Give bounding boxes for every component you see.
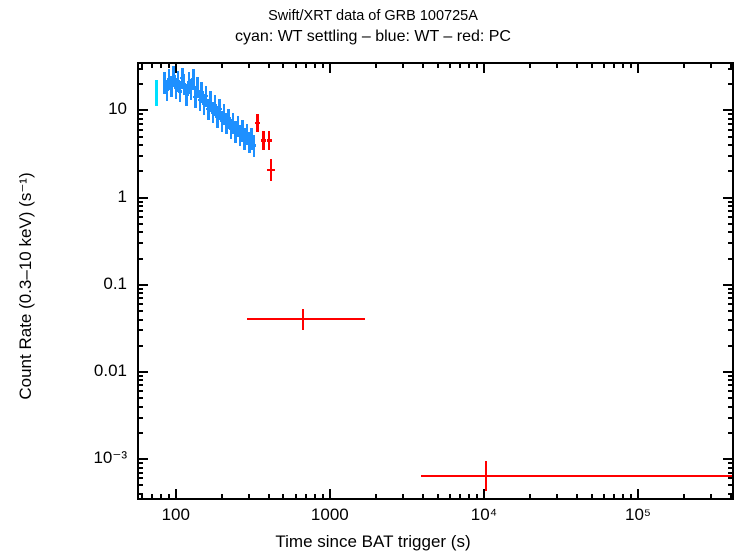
x-tick-top bbox=[476, 62, 478, 68]
x-tick-top bbox=[268, 62, 270, 68]
y-tick-right bbox=[728, 136, 734, 138]
y-tick bbox=[137, 170, 143, 172]
x-tick-top bbox=[160, 62, 162, 68]
y-tick-right bbox=[728, 397, 734, 399]
plot-canvas: Swift/XRT data of GRB 100725A cyan: WT s… bbox=[0, 0, 746, 558]
y-tick bbox=[137, 390, 143, 392]
x-tick bbox=[221, 494, 223, 500]
y-tick-right bbox=[728, 375, 734, 377]
y-tick-right bbox=[728, 432, 734, 434]
x-tick-top bbox=[468, 62, 470, 68]
y-tick-right bbox=[728, 462, 734, 464]
x-tick bbox=[449, 494, 451, 500]
x-tick-top bbox=[314, 62, 316, 68]
x-error-bar bbox=[195, 86, 199, 89]
y-tick-right bbox=[728, 303, 734, 305]
x-tick bbox=[329, 489, 331, 500]
x-tick-top bbox=[437, 62, 439, 68]
y-tick bbox=[137, 216, 143, 218]
y-tick bbox=[137, 292, 143, 294]
y-tick bbox=[137, 197, 148, 199]
x-tick bbox=[175, 489, 177, 500]
y-tick-right bbox=[728, 310, 734, 312]
x-tick-top bbox=[375, 62, 377, 68]
x-tick bbox=[160, 494, 162, 500]
y-tick bbox=[137, 242, 143, 244]
y-tick bbox=[137, 345, 143, 347]
y-tick-right bbox=[728, 129, 734, 131]
x-tick-top bbox=[221, 62, 223, 68]
x-tick bbox=[603, 494, 605, 500]
x-tick-top bbox=[151, 62, 153, 68]
x-error-bar bbox=[185, 93, 189, 96]
x-tick-top bbox=[449, 62, 451, 68]
y-tick-right bbox=[728, 379, 734, 381]
y-tick bbox=[137, 467, 143, 469]
x-tick bbox=[556, 494, 558, 500]
x-tick bbox=[591, 494, 593, 500]
y-tick-right bbox=[728, 493, 734, 495]
y-tick bbox=[137, 371, 148, 373]
y-tick-right bbox=[728, 297, 734, 299]
y-tick bbox=[137, 83, 143, 85]
y-tick bbox=[137, 123, 143, 125]
y-tick-right bbox=[723, 109, 734, 111]
x-tick-top bbox=[622, 62, 624, 68]
y-tick bbox=[137, 384, 143, 386]
y-tick bbox=[137, 303, 143, 305]
x-tick-top bbox=[710, 62, 712, 68]
x-tick bbox=[613, 494, 615, 500]
x-tick bbox=[683, 494, 685, 500]
x-error-bar bbox=[267, 139, 272, 142]
y-tick-right bbox=[728, 472, 734, 474]
x-tick bbox=[314, 494, 316, 500]
y-tick-right bbox=[728, 201, 734, 203]
y-tick-right bbox=[728, 467, 734, 469]
x-tick bbox=[422, 494, 424, 500]
x-tick bbox=[168, 494, 170, 500]
y-tick bbox=[137, 201, 143, 203]
y-tick bbox=[137, 329, 143, 331]
data-area bbox=[139, 64, 732, 498]
x-tick-top bbox=[329, 62, 331, 73]
y-tick-right bbox=[728, 113, 734, 115]
x-tick-top bbox=[459, 62, 461, 68]
y-tick-right bbox=[728, 123, 734, 125]
y-tick bbox=[137, 129, 143, 131]
y-tick-right bbox=[728, 144, 734, 146]
x-tick-top bbox=[168, 62, 170, 68]
y-tick bbox=[137, 406, 143, 408]
y-tick bbox=[137, 68, 143, 70]
x-tick-top bbox=[322, 62, 324, 68]
x-tick-top bbox=[282, 62, 284, 68]
x-tick bbox=[637, 489, 639, 500]
y-tick bbox=[137, 297, 143, 299]
x-tick-top bbox=[402, 62, 404, 68]
x-axis-title: Time since BAT trigger (s) bbox=[0, 532, 746, 552]
x-error-bar bbox=[178, 90, 182, 93]
y-tick-right bbox=[728, 292, 734, 294]
y-tick bbox=[137, 484, 143, 486]
x-error-bar bbox=[252, 144, 256, 147]
y-tick-right bbox=[728, 210, 734, 212]
x-tick bbox=[630, 494, 632, 500]
y-tick-right bbox=[728, 484, 734, 486]
x-error-bar bbox=[155, 91, 158, 94]
x-tick-top bbox=[483, 62, 485, 73]
y-tick bbox=[137, 379, 143, 381]
x-tick bbox=[282, 494, 284, 500]
y-tick bbox=[137, 136, 143, 138]
y-tick bbox=[137, 113, 143, 115]
x-tick-top bbox=[630, 62, 632, 68]
y-tick bbox=[137, 284, 148, 286]
x-tick-label: 100 bbox=[116, 505, 236, 525]
x-tick-top bbox=[576, 62, 578, 68]
x-tick-top bbox=[295, 62, 297, 68]
y-tick bbox=[137, 458, 148, 460]
x-tick bbox=[248, 494, 250, 500]
x-tick bbox=[322, 494, 324, 500]
y-tick bbox=[137, 258, 143, 260]
plot-frame bbox=[137, 62, 734, 500]
y-tick bbox=[137, 319, 143, 321]
x-error-bar bbox=[204, 95, 208, 98]
y-tick-right bbox=[728, 231, 734, 233]
x-tick bbox=[476, 494, 478, 500]
x-tick-top bbox=[556, 62, 558, 68]
x-tick bbox=[468, 494, 470, 500]
x-tick bbox=[151, 494, 153, 500]
y-tick-right bbox=[728, 288, 734, 290]
y-tick-right bbox=[728, 83, 734, 85]
y-tick-right bbox=[728, 406, 734, 408]
x-tick bbox=[141, 494, 143, 500]
y-tick bbox=[137, 288, 143, 290]
y-tick bbox=[137, 155, 143, 157]
y-tick-right bbox=[728, 205, 734, 207]
y-tick bbox=[137, 205, 143, 207]
x-error-bar bbox=[267, 169, 274, 172]
y-tick bbox=[137, 231, 143, 233]
x-tick-top bbox=[591, 62, 593, 68]
y-tick-right bbox=[728, 477, 734, 479]
y-axis-title: Count Rate (0.3–10 keV) (s⁻¹) bbox=[16, 116, 36, 456]
x-tick bbox=[710, 494, 712, 500]
y-tick bbox=[137, 310, 143, 312]
x-error-bar bbox=[421, 475, 732, 478]
y-tick-right bbox=[728, 118, 734, 120]
x-tick-top bbox=[529, 62, 531, 68]
x-tick bbox=[437, 494, 439, 500]
y-tick bbox=[137, 118, 143, 120]
x-error-bar bbox=[261, 139, 266, 142]
y-tick-right bbox=[728, 242, 734, 244]
y-tick bbox=[137, 493, 143, 495]
x-tick-top bbox=[305, 62, 307, 68]
y-tick bbox=[137, 417, 143, 419]
chart-subtitle: cyan: WT settling – blue: WT – red: PC bbox=[0, 28, 746, 46]
y-tick-right bbox=[728, 258, 734, 260]
y-tick-right bbox=[728, 68, 734, 70]
y-tick-right bbox=[728, 390, 734, 392]
y-tick-right bbox=[728, 329, 734, 331]
x-tick bbox=[402, 494, 404, 500]
x-tick-top bbox=[683, 62, 685, 68]
y-tick-right bbox=[723, 458, 734, 460]
x-tick bbox=[529, 494, 531, 500]
x-tick bbox=[459, 494, 461, 500]
y-tick bbox=[137, 462, 143, 464]
y-tick bbox=[137, 223, 143, 225]
y-tick bbox=[137, 472, 143, 474]
x-tick-label: 1000 bbox=[270, 505, 390, 525]
x-tick-top bbox=[637, 62, 639, 73]
x-tick-top bbox=[613, 62, 615, 68]
y-tick bbox=[137, 477, 143, 479]
y-tick-right bbox=[728, 216, 734, 218]
x-tick-label: 10⁵ bbox=[578, 505, 698, 525]
y-tick-right bbox=[728, 223, 734, 225]
x-tick-top bbox=[175, 62, 177, 73]
y-tick-right bbox=[723, 284, 734, 286]
x-tick bbox=[305, 494, 307, 500]
chart-title: Swift/XRT data of GRB 100725A bbox=[0, 8, 746, 24]
y-tick bbox=[137, 432, 143, 434]
y-tick-right bbox=[728, 155, 734, 157]
x-tick bbox=[576, 494, 578, 500]
x-tick-top bbox=[603, 62, 605, 68]
x-tick bbox=[622, 494, 624, 500]
x-tick-top bbox=[422, 62, 424, 68]
x-tick-top bbox=[248, 62, 250, 68]
y-tick bbox=[137, 109, 148, 111]
y-tick-right bbox=[728, 417, 734, 419]
y-tick-right bbox=[723, 371, 734, 373]
y-tick bbox=[137, 144, 143, 146]
x-error-bar bbox=[255, 122, 260, 125]
y-tick bbox=[137, 397, 143, 399]
x-error-bar bbox=[247, 318, 366, 321]
x-tick bbox=[375, 494, 377, 500]
y-tick bbox=[137, 210, 143, 212]
y-tick-right bbox=[728, 345, 734, 347]
y-tick-right bbox=[723, 197, 734, 199]
x-tick bbox=[730, 494, 732, 500]
y-tick-right bbox=[728, 319, 734, 321]
x-tick bbox=[268, 494, 270, 500]
x-tick bbox=[483, 489, 485, 500]
x-tick bbox=[295, 494, 297, 500]
y-tick-right bbox=[728, 170, 734, 172]
x-error-bar bbox=[191, 78, 195, 81]
y-tick-right bbox=[728, 384, 734, 386]
y-tick bbox=[137, 375, 143, 377]
x-tick-label: 10⁴ bbox=[424, 505, 544, 525]
